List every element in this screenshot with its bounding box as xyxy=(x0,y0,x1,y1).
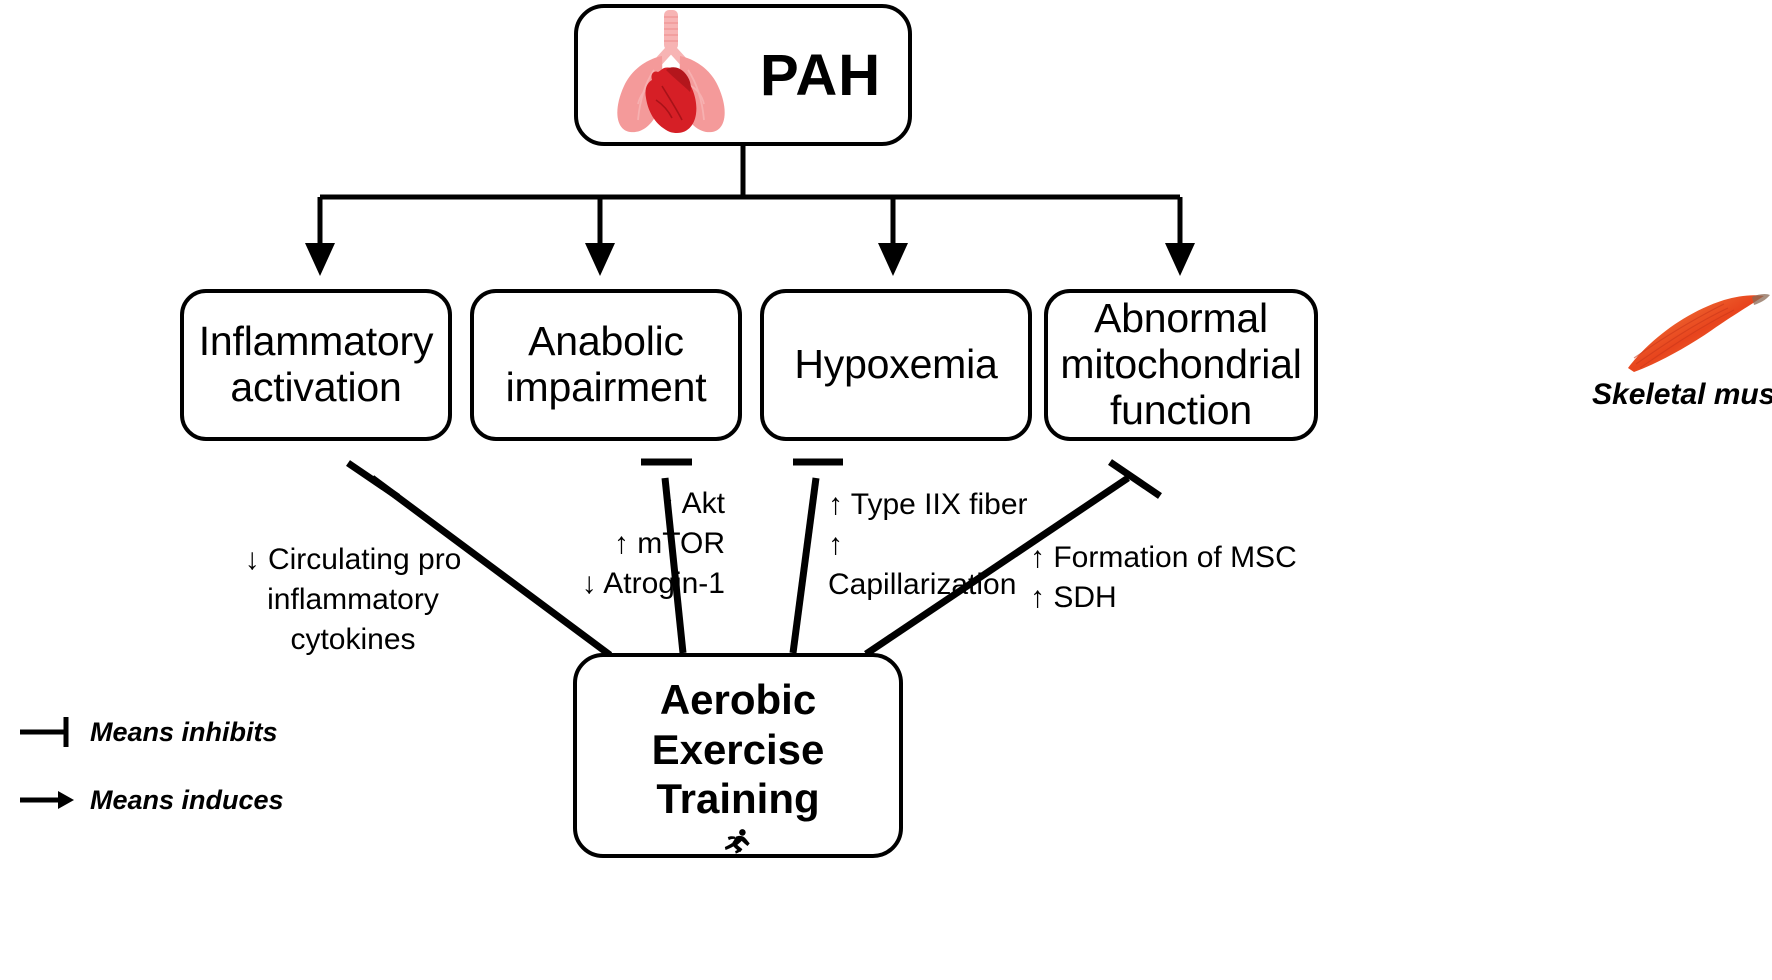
legend-inhibits-text: Means inhibits xyxy=(90,717,278,748)
lungs-heart-icon xyxy=(596,8,746,142)
annotation-anabolic-markers: ↑ Akt ↑ mTOR ↓ Atrogin-1 xyxy=(545,484,725,604)
node-hypoxemia[interactable]: Hypoxemia xyxy=(760,289,1032,441)
node-anabolic-impairment-label: Anabolic impairment xyxy=(474,319,738,411)
arrow-line-icon xyxy=(18,780,76,820)
running-person-icon xyxy=(692,828,784,854)
annotation-cytokines: ↓ Circulating pro inflammatory cytokines xyxy=(238,540,468,660)
node-aerobic-exercise-training-label: Aerobic Exercise Training xyxy=(577,675,899,824)
node-abnormal-mitochondrial-function-label: Abnormal mitochondrial function xyxy=(1048,296,1314,434)
annotation-mitochondrial-markers: ↑ Formation of MSC ↑ SDH xyxy=(1030,538,1310,618)
pah-distribution-connector xyxy=(320,146,1180,258)
annotation-fiber-markers: ↑ Type IIX fiber ↑ Capillarization xyxy=(828,485,1028,605)
skeletal-muscle-graphic xyxy=(1620,288,1772,384)
node-pah[interactable]: PAH xyxy=(574,4,912,146)
node-aerobic-exercise-training[interactable]: Aerobic Exercise Training xyxy=(573,653,903,858)
legend-item-induces: Means induces xyxy=(18,780,284,820)
node-inflammatory-activation[interactable]: Inflammatory activation xyxy=(180,289,452,441)
node-anabolic-impairment[interactable]: Anabolic impairment xyxy=(470,289,742,441)
figure-canvas: PAH Inflammatory activation Anabolic imp… xyxy=(0,0,1772,980)
skeletal-muscle-icon xyxy=(1620,288,1772,384)
skeletal-muscle-label: Skeletal muscle xyxy=(1592,378,1772,412)
legend-induces-text: Means induces xyxy=(90,785,284,816)
node-hypoxemia-label: Hypoxemia xyxy=(794,342,997,388)
node-inflammatory-activation-label: Inflammatory activation xyxy=(184,319,448,411)
pah-label: PAH xyxy=(760,42,881,109)
legend-item-inhibits: Means inhibits xyxy=(18,712,278,752)
node-abnormal-mitochondrial-function[interactable]: Abnormal mitochondrial function xyxy=(1044,289,1318,441)
bar-end-line-icon xyxy=(18,712,76,752)
